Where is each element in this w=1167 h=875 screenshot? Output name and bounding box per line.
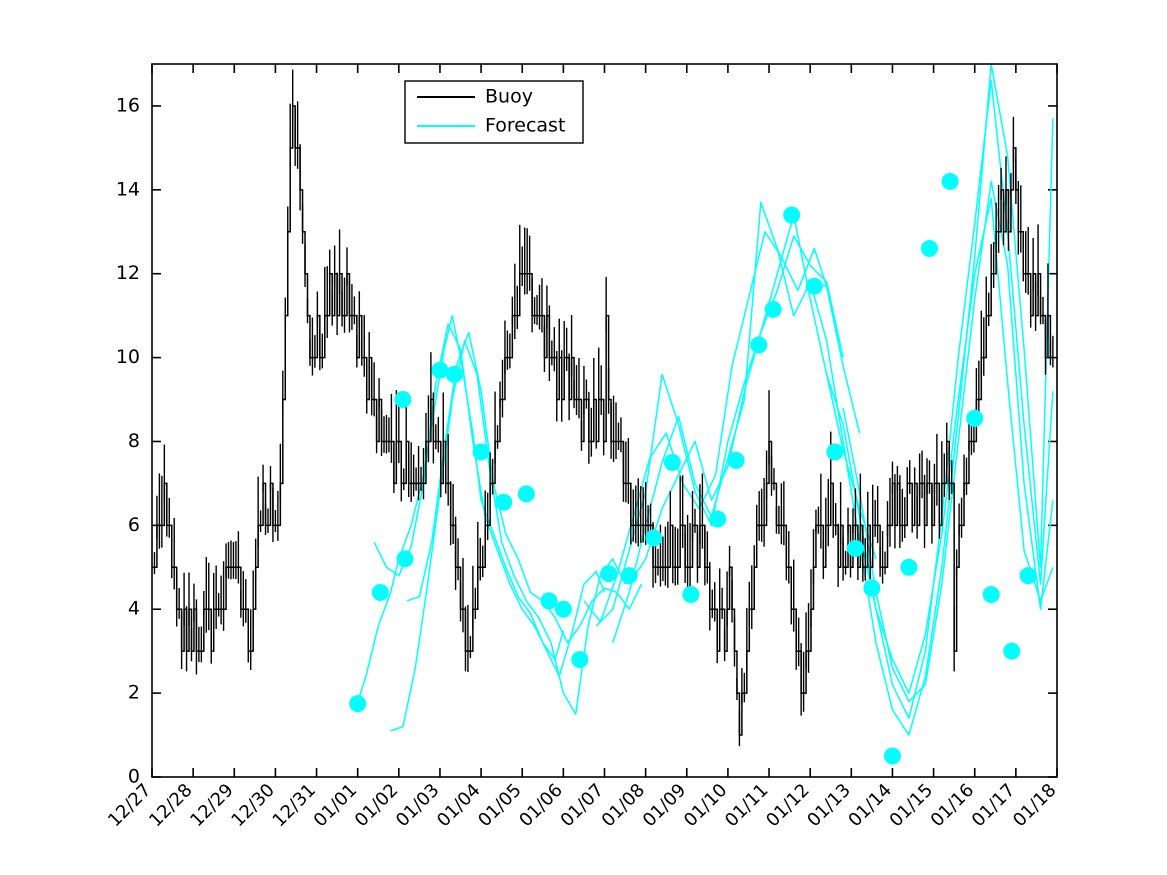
y-tick-label: 12: [116, 262, 140, 284]
forecast-marker: [1003, 643, 1020, 660]
chart-figure: NDBC 42040 vs GFS Winds: 5 to 7 day fore…: [0, 0, 1167, 875]
forecast-marker: [555, 601, 572, 618]
y-tick-label: 4: [128, 598, 140, 620]
y-tick-label: 10: [116, 346, 140, 368]
forecast-marker: [750, 337, 767, 354]
forecast-marker: [600, 565, 617, 582]
y-tick-label: 6: [128, 514, 140, 536]
forecast-marker: [709, 511, 726, 528]
legend-label-buoy: Buoy: [485, 86, 533, 108]
forecast-marker: [1020, 567, 1037, 584]
y-tick-label: 14: [116, 178, 140, 200]
forecast-marker: [349, 695, 366, 712]
forecast-marker: [783, 206, 800, 223]
forecast-marker: [394, 391, 411, 408]
forecast-marker: [900, 559, 917, 576]
forecast-marker: [495, 494, 512, 511]
forecast-marker: [942, 173, 959, 190]
forecast-marker: [966, 410, 983, 427]
forecast-marker: [682, 586, 699, 603]
forecast-marker: [431, 362, 448, 379]
forecast-marker: [921, 240, 938, 257]
forecast-marker: [372, 584, 389, 601]
forecast-marker: [728, 452, 745, 469]
forecast-marker: [621, 567, 638, 584]
forecast-marker: [884, 748, 901, 765]
forecast-marker: [863, 580, 880, 597]
y-tick-label: 16: [116, 94, 140, 116]
forecast-marker: [983, 586, 1000, 603]
legend-label-forecast: Forecast: [485, 115, 565, 137]
forecast-marker: [446, 366, 463, 383]
chart-legend[interactable]: BuoyForecast: [405, 81, 583, 143]
forecast-marker: [806, 278, 823, 295]
forecast-marker: [518, 485, 535, 502]
forecast-marker: [765, 301, 782, 318]
y-tick-label: 2: [128, 682, 140, 704]
forecast-marker: [571, 651, 588, 668]
plot-canvas: 0246810121416 12/2712/2812/2912/3012/310…: [0, 0, 1167, 875]
forecast-marker: [396, 550, 413, 567]
forecast-marker: [473, 443, 490, 460]
forecast-marker: [826, 443, 843, 460]
forecast-marker: [847, 540, 864, 557]
forecast-marker: [664, 454, 681, 471]
forecast-marker: [645, 529, 662, 546]
forecast-marker: [540, 592, 557, 609]
y-tick-label: 8: [128, 430, 140, 452]
